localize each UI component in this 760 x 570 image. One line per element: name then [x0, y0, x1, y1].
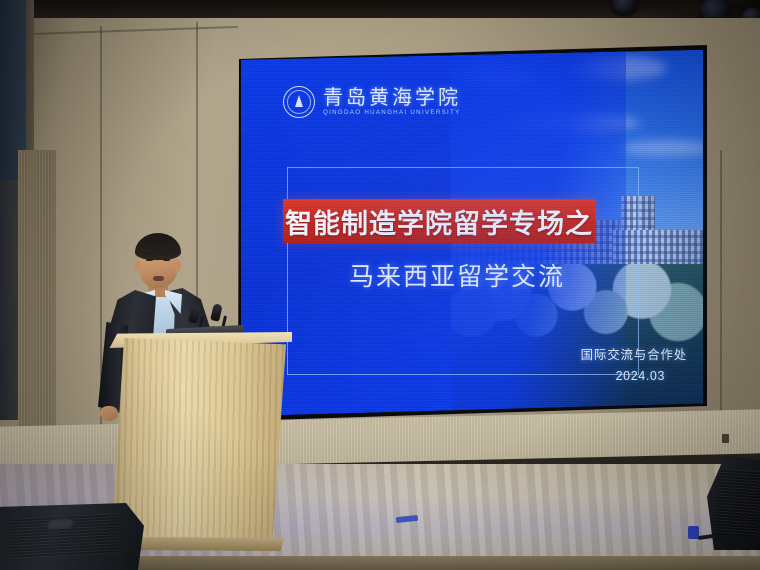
auditorium-presentation-photo: 青岛黄海学院 QINGDAO HUANGHAI UNIVERSITY 智能制造学…: [0, 0, 760, 570]
presenter-mouth: [153, 276, 164, 281]
stage-monitor-right-grille: [714, 469, 760, 538]
slide-branding: 青岛黄海学院 QINGDAO HUANGHAI UNIVERSITY: [283, 86, 461, 118]
led-screen[interactable]: 青岛黄海学院 QINGDAO HUANGHAI UNIVERSITY 智能制造学…: [241, 50, 703, 416]
presenter-hair: [135, 233, 181, 260]
slide-title-text: 智能制造学院留学专场之: [285, 202, 593, 241]
presenter-ear-left: [134, 260, 141, 272]
presenter-hand: [100, 406, 118, 421]
presenter-eye-right: [163, 258, 170, 261]
slide-footer-date: 2024.03: [616, 369, 665, 383]
slide-subtitle: 马来西亚留学交流: [349, 257, 565, 293]
university-name-block: 青岛黄海学院 QINGDAO HUANGHAI UNIVERSITY: [323, 87, 461, 116]
presenter-eye-left: [146, 258, 153, 261]
wall-panel-seam: [720, 150, 722, 440]
slide-title-banner: 智能制造学院留学专场之: [283, 199, 595, 243]
university-name-cn: 青岛黄海学院: [323, 87, 461, 107]
presenter-ear-right: [174, 260, 181, 272]
presentation-slide: 青岛黄海学院 QINGDAO HUANGHAI UNIVERSITY 智能制造学…: [241, 50, 703, 416]
wall-outlet-icon: [722, 434, 729, 443]
slide-footer-department: 国际交流与合作处: [581, 344, 687, 363]
stage-monitor-handle: [46, 516, 74, 530]
university-seal-icon: [283, 86, 315, 118]
university-name-en: QINGDAO HUANGHAI UNIVERSITY: [323, 110, 461, 116]
